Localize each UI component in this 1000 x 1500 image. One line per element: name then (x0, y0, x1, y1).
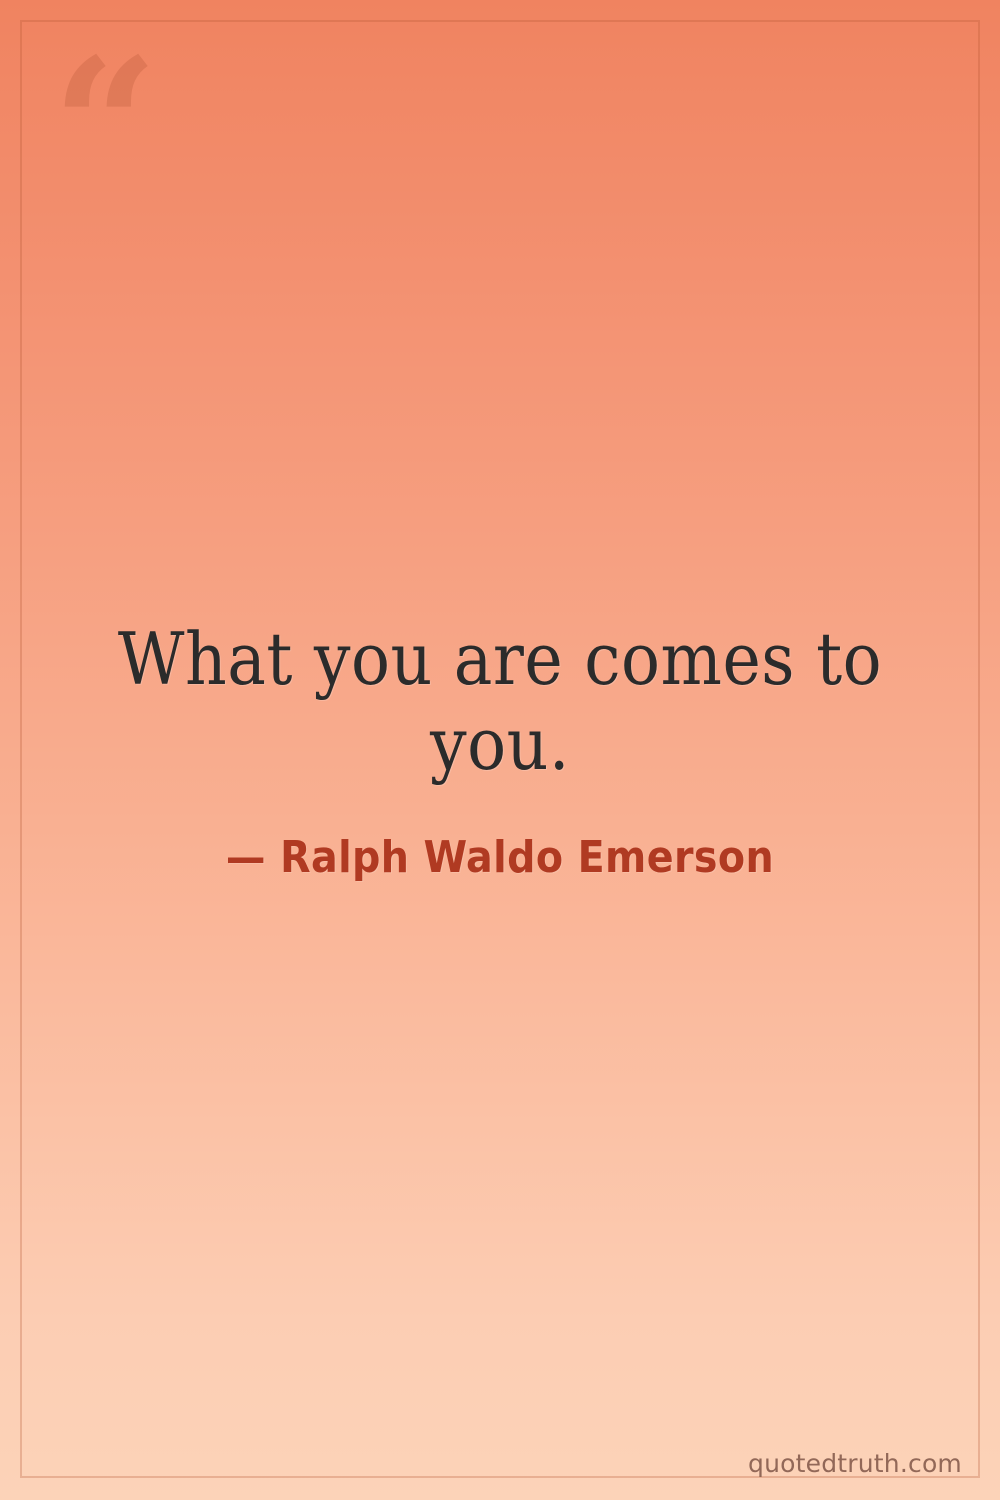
quote-text: What you are comes to you. (70, 617, 930, 787)
quote-content-block: What you are comes to you. — Ralph Waldo… (0, 0, 1000, 1500)
quote-card: “ What you are comes to you. — Ralph Wal… (0, 0, 1000, 1500)
site-watermark: quotedtruth.com (748, 1449, 962, 1478)
quote-author: — Ralph Waldo Emerson (226, 832, 774, 883)
